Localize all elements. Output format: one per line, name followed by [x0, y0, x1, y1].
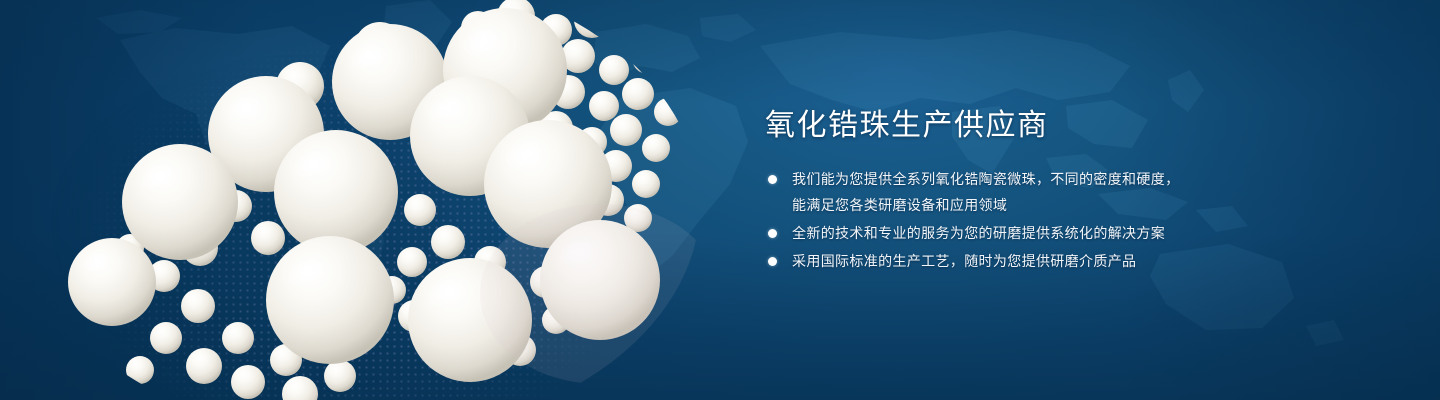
feature-list: 我们能为您提供全系列氧化锆陶瓷微珠，不同的密度和硬度， 能满足您各类研磨设备和应… [765, 166, 1405, 274]
bullet-dot-icon [768, 229, 777, 238]
bullet-dot-icon [768, 257, 777, 266]
list-item-line-1: 全新的技术和专业的服务为您的研磨提供系统化的解决方案 [792, 225, 1165, 241]
hero-banner: 氧化锆珠生产供应商 我们能为您提供全系列氧化锆陶瓷微珠，不同的密度和硬度， 能满… [0, 0, 1440, 400]
list-item: 采用国际标准的生产工艺，随时为您提供研磨介质产品 [765, 248, 1405, 274]
list-item: 全新的技术和专业的服务为您的研磨提供系统化的解决方案 [765, 220, 1405, 246]
hero-copy: 氧化锆珠生产供应商 我们能为您提供全系列氧化锆陶瓷微珠，不同的密度和硬度， 能满… [765, 106, 1405, 276]
list-item-line-2: 能满足您各类研磨设备和应用领域 [792, 192, 1405, 218]
list-item: 我们能为您提供全系列氧化锆陶瓷微珠，不同的密度和硬度， 能满足您各类研磨设备和应… [765, 166, 1405, 218]
list-item-line-1: 采用国际标准的生产工艺，随时为您提供研磨介质产品 [792, 253, 1136, 269]
bullet-dot-icon [768, 175, 777, 184]
list-item-line-1: 我们能为您提供全系列氧化锆陶瓷微珠，不同的密度和硬度， [792, 171, 1179, 187]
zirconia-beads-image [0, 0, 760, 400]
page-title: 氧化锆珠生产供应商 [765, 106, 1405, 146]
